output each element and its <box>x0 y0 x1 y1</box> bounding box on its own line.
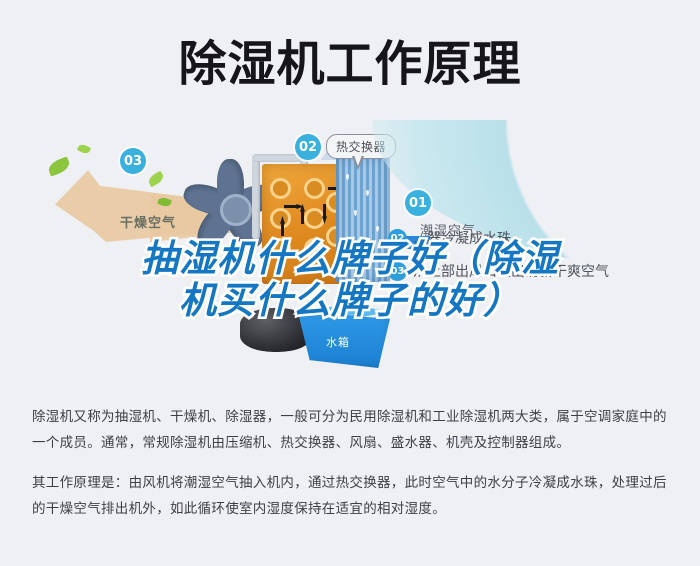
condensation-droplet <box>346 174 349 180</box>
diagram-badge-02: 02 <box>295 134 321 160</box>
leaf-icon <box>77 143 91 156</box>
step-text: …器冷凝成水珠 <box>413 228 511 248</box>
coil-ring <box>270 208 291 229</box>
step-text: 从上部出风口吹出清新干爽空气 <box>413 261 609 281</box>
refrigerant-pipe <box>252 156 260 240</box>
diagram-badge-01: 01 <box>405 190 431 216</box>
body-paragraph-2: 其工作原理是：由风机将潮湿空气抽入机内，通过热交换器，此时空气中的水分子冷凝成水… <box>32 470 668 523</box>
coil-ring <box>304 208 325 229</box>
step-badge: 02 <box>388 229 407 248</box>
header-banner: 除湿机工作原理 <box>0 0 700 118</box>
coil-ring <box>270 178 291 199</box>
callout-pointer-icon <box>352 156 364 170</box>
article-body: 除湿机又称为抽湿机、干燥机、除湿器，一般可分为民用除湿机和工业除湿机两大类，属于… <box>0 404 700 535</box>
list-item: 02 …器冷凝成水珠 <box>388 228 688 248</box>
heat-exchanger-fins <box>336 156 390 282</box>
process-step-list: 02 …器冷凝成水珠 03 从上部出风口吹出清新干爽空气 <box>388 228 688 294</box>
page-title: 除湿机工作原理 <box>178 24 521 94</box>
condensation-droplet <box>354 210 357 216</box>
leaf-icon <box>147 171 166 188</box>
condensation-droplet <box>376 226 379 232</box>
list-item: 03 从上部出风口吹出清新干爽空气 <box>388 261 688 281</box>
diagram-badge-03: 03 <box>120 148 146 174</box>
body-paragraph-1: 除湿机又称为抽湿机、干燥机、除湿器，一般可分为民用除湿机和工业除湿机两大类，属于… <box>32 404 668 457</box>
coil-ring <box>304 238 325 259</box>
dry-air-label: 干燥空气 <box>120 212 176 231</box>
coil-ring <box>270 238 291 259</box>
water-tank-label: 水箱 <box>326 334 350 350</box>
page-root: 除湿机工作原理 03 干燥空气 <box>0 0 700 566</box>
condensation-droplet <box>348 244 351 250</box>
condensation-droplet <box>368 260 371 266</box>
leaf-icon <box>46 156 71 176</box>
coil-ring <box>304 178 325 199</box>
condensation-droplet <box>366 190 369 196</box>
fan-hub <box>220 194 252 226</box>
step-badge: 03 <box>388 262 407 281</box>
